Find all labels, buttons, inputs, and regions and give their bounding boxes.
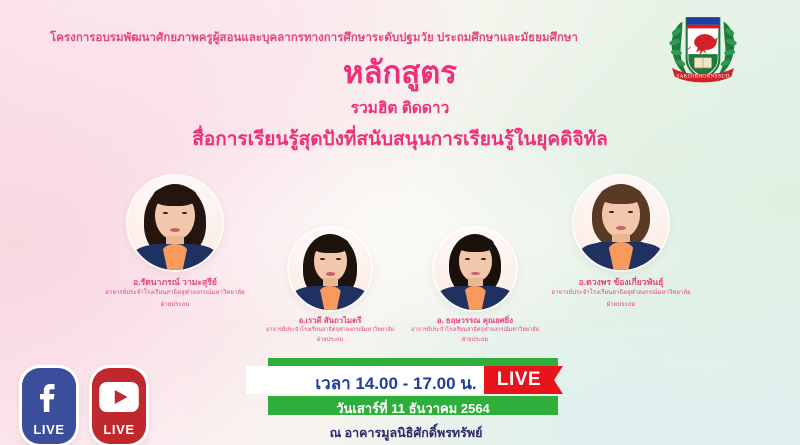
speaker-photo-1 — [128, 176, 222, 270]
title-subtitle: รวมฮิต ติดดาว — [0, 95, 800, 120]
header-program-line: โครงการอบรมพัฒนาศักยภาพครูผู้สอนและบุคลา… — [50, 29, 690, 47]
facebook-live-label: LIVE — [22, 422, 76, 437]
facebook-live-button[interactable]: LIVE — [22, 368, 76, 444]
facebook-icon — [29, 376, 69, 416]
youtube-icon — [98, 381, 140, 413]
seminar-poster: โครงการอบรมพัฒนาศักยภาพครูผู้สอนและบุคลา… — [0, 0, 800, 445]
youtube-live-label: LIVE — [92, 422, 146, 437]
live-badge: LIVE — [484, 366, 554, 394]
speaker-photo-4 — [574, 176, 668, 270]
speaker-dept-3: ฝ่ายประถม — [385, 336, 565, 344]
youtube-live-button[interactable]: LIVE — [92, 368, 146, 444]
speaker-name-4: อ.ดวงพร ข้องเกี่ยวพันธุ์ — [521, 275, 721, 289]
title-subtitle-secondary: สื่อการเรียนรู้สุดปังที่สนับสนุนการเรียน… — [0, 124, 800, 154]
speaker-dept-4: ฝ่ายประถม — [521, 299, 721, 309]
speaker-role-4: อาจารย์ประจำโรงเรียนสาธิตจุฬาลงกรณ์มหาวิ… — [521, 289, 721, 297]
banner-date-text: วันเสาร์ที่ 11 ธันวาคม 2564 — [268, 398, 558, 419]
speaker-photo-3 — [434, 228, 516, 310]
page-title: หลักสูตร — [0, 57, 800, 88]
banner-date-bar: วันเสาร์ที่ 11 ธันวาคม 2564 — [268, 396, 558, 415]
speaker-card-4: อ.ดวงพร ข้องเกี่ยวพันธุ์ อาจารย์ประจำโรง… — [521, 176, 721, 309]
speaker-role-3: อาจารย์ประจำโรงเรียนสาธิตจุฬาลงกรณ์มหาวิ… — [385, 327, 565, 334]
speaker-name-3: อ. ธฤษวรรณ คุณยศยิ่ง — [385, 315, 565, 327]
live-badge-label: LIVE — [484, 369, 554, 391]
banner-venue-text: ณ อาคารมูลนิธิศักดิ์พรทรัพย์ — [246, 423, 566, 443]
speaker-photo-2 — [289, 228, 371, 310]
